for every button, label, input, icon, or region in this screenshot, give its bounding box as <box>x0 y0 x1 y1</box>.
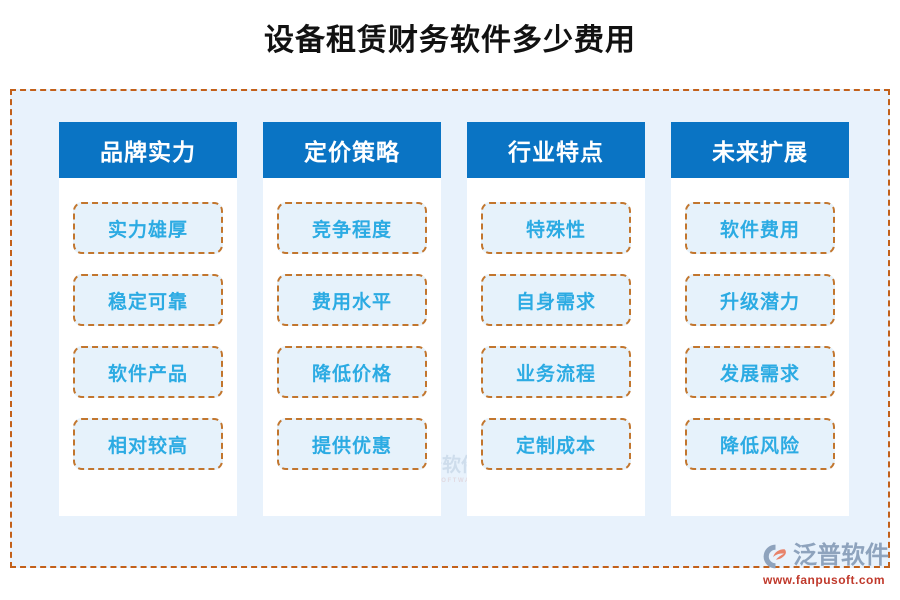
item-chip[interactable]: 软件费用 <box>685 202 835 254</box>
item-chip[interactable]: 发展需求 <box>685 346 835 398</box>
item-chip[interactable]: 特殊性 <box>481 202 631 254</box>
item-chip[interactable]: 降低价格 <box>277 346 427 398</box>
column-items-3: 特殊性 自身需求 业务流程 定制成本 <box>467 178 645 516</box>
column-header-3: 行业特点 <box>467 122 645 178</box>
brand-url: www.fanpusoft.com <box>763 573 885 587</box>
item-chip[interactable]: 竞争程度 <box>277 202 427 254</box>
column-items-4: 软件费用 升级潜力 发展需求 降低风险 <box>671 178 849 516</box>
item-chip[interactable]: 降低风险 <box>685 418 835 470</box>
column-header-4: 未来扩展 <box>671 122 849 178</box>
brand-name: 泛普软件 <box>793 544 889 568</box>
diagram-panel: 泛普软件 FANPU SOFTWARE 品牌实力 实力雄厚 稳定可靠 软件产品 … <box>10 89 890 568</box>
item-chip[interactable]: 定制成本 <box>481 418 631 470</box>
item-chip[interactable]: 相对较高 <box>73 418 223 470</box>
column-header-1: 品牌实力 <box>59 122 237 178</box>
column-items-2: 竞争程度 费用水平 降低价格 提供优惠 <box>263 178 441 516</box>
column-items-1: 实力雄厚 稳定可靠 软件产品 相对较高 <box>59 178 237 516</box>
item-chip[interactable]: 自身需求 <box>481 274 631 326</box>
column-container: 品牌实力 实力雄厚 稳定可靠 软件产品 相对较高 定价策略 竞争程度 费用水平 … <box>59 122 849 516</box>
item-chip[interactable]: 稳定可靠 <box>73 274 223 326</box>
item-chip[interactable]: 软件产品 <box>73 346 223 398</box>
brand-logo[interactable]: 泛普软件 www.fanpusoft.com <box>762 541 898 591</box>
item-chip[interactable]: 提供优惠 <box>277 418 427 470</box>
page-title: 设备租赁财务软件多少费用 <box>0 0 900 82</box>
column-header-2: 定价策略 <box>263 122 441 178</box>
item-chip[interactable]: 升级潜力 <box>685 274 835 326</box>
fanpu-logo-icon <box>762 543 789 570</box>
item-chip[interactable]: 实力雄厚 <box>73 202 223 254</box>
brand-row: 泛普软件 <box>762 541 889 571</box>
item-chip[interactable]: 费用水平 <box>277 274 427 326</box>
column-pricing-strategy: 定价策略 竞争程度 费用水平 降低价格 提供优惠 <box>263 122 441 516</box>
column-future-expansion: 未来扩展 软件费用 升级潜力 发展需求 降低风险 <box>671 122 849 516</box>
column-industry-traits: 行业特点 特殊性 自身需求 业务流程 定制成本 <box>467 122 645 516</box>
column-brand-strength: 品牌实力 实力雄厚 稳定可靠 软件产品 相对较高 <box>59 122 237 516</box>
item-chip[interactable]: 业务流程 <box>481 346 631 398</box>
